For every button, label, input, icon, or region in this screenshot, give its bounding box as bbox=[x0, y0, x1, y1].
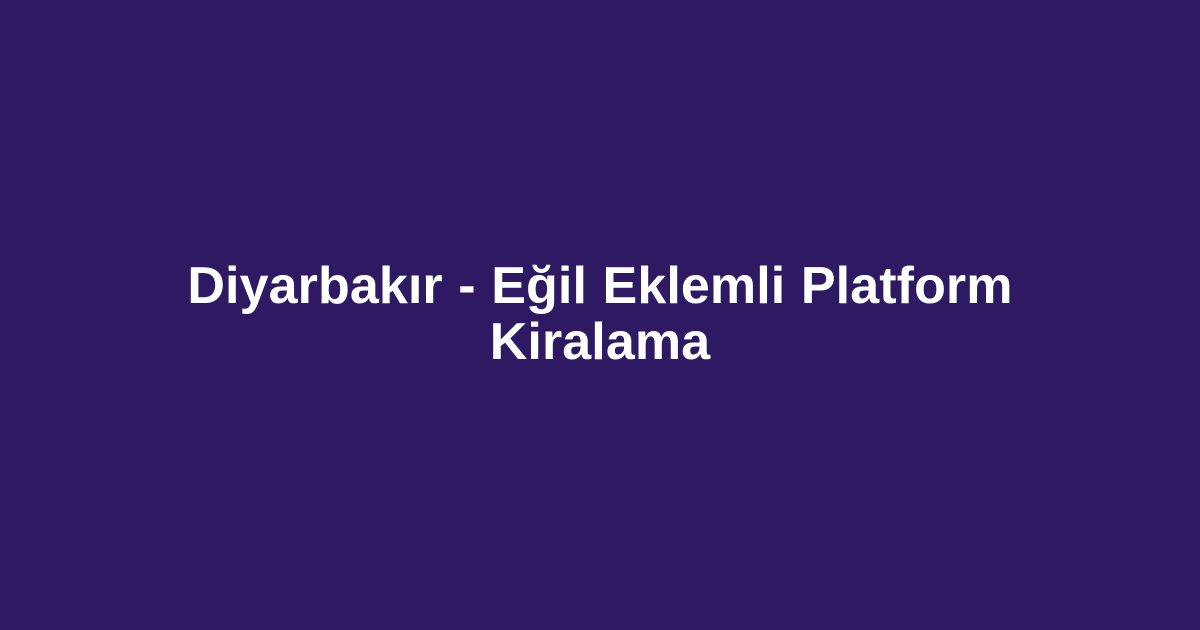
social-share-card: Diyarbakır - Eğil Eklemli Platform Kiral… bbox=[0, 0, 1200, 630]
headline-container: Diyarbakır - Eğil Eklemli Platform Kiral… bbox=[160, 259, 1040, 370]
page-title: Diyarbakır - Eğil Eklemli Platform Kiral… bbox=[180, 259, 1020, 370]
